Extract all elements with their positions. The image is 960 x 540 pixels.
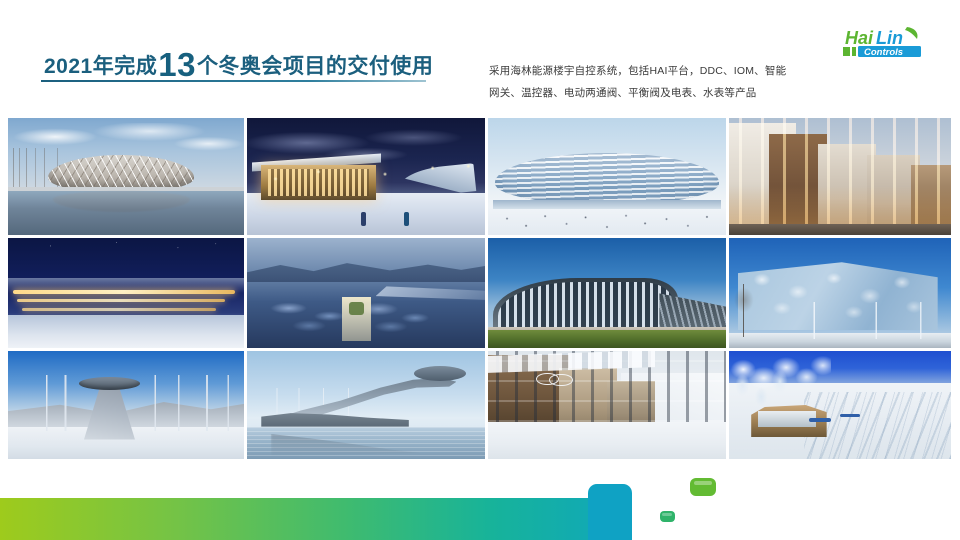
gallery-photo-6[interactable]	[247, 238, 485, 348]
description-line-1: 采用海林能源楼宇自控系统，包括HAI平台，DDC、IOM、智能	[489, 60, 841, 82]
page-title: 2021年完成13个冬奥会项目的交付使用	[44, 48, 433, 81]
gallery-photo-1[interactable]	[8, 118, 244, 235]
gallery-photo-3[interactable]	[488, 118, 726, 235]
gallery-photo-11[interactable]	[488, 351, 726, 459]
svg-text:Hai: Hai	[845, 28, 874, 48]
gallery-photo-7[interactable]	[488, 238, 726, 348]
footer-gradient-bar	[0, 498, 630, 540]
footer-accent-square-small	[660, 511, 675, 522]
footer-step-block-upper	[588, 484, 632, 514]
gallery-photo-5[interactable]	[8, 238, 244, 348]
footer-accent-square-large	[690, 478, 716, 496]
gallery-photo-4[interactable]	[729, 118, 951, 235]
description-line-2: 网关、温控器、电动两通阀、平衡阀及电表、水表等产品	[489, 82, 841, 104]
svg-text:Lin: Lin	[876, 28, 903, 48]
slide-header: 2021年完成13个冬奥会项目的交付使用 采用海林能源楼宇自控系统，包括HAI平…	[0, 0, 960, 118]
footer-step-block-lower	[588, 510, 632, 540]
logo-wordmark-icon: Hai Lin Controls	[843, 27, 921, 58]
gallery-photo-2[interactable]	[247, 118, 485, 235]
slide-root: 2021年完成13个冬奥会项目的交付使用 采用海林能源楼宇自控系统，包括HAI平…	[0, 0, 960, 540]
gallery-photo-8[interactable]	[729, 238, 951, 348]
hailin-controls-logo: Hai Lin Controls	[843, 25, 941, 61]
svg-text:Controls: Controls	[864, 47, 903, 58]
title-suffix: 个冬奥会项目的交付使用	[197, 55, 434, 78]
title-underline-divider	[41, 80, 426, 82]
gallery-photo-10[interactable]	[247, 351, 485, 459]
slide-description: 采用海林能源楼宇自控系统，包括HAI平台，DDC、IOM、智能 网关、温控器、电…	[489, 60, 841, 104]
title-number: 13	[157, 46, 197, 83]
project-photo-grid	[8, 118, 952, 457]
gallery-photo-9[interactable]	[8, 351, 244, 459]
gallery-photo-12[interactable]	[729, 351, 951, 459]
title-prefix: 2021年完成	[44, 55, 157, 78]
